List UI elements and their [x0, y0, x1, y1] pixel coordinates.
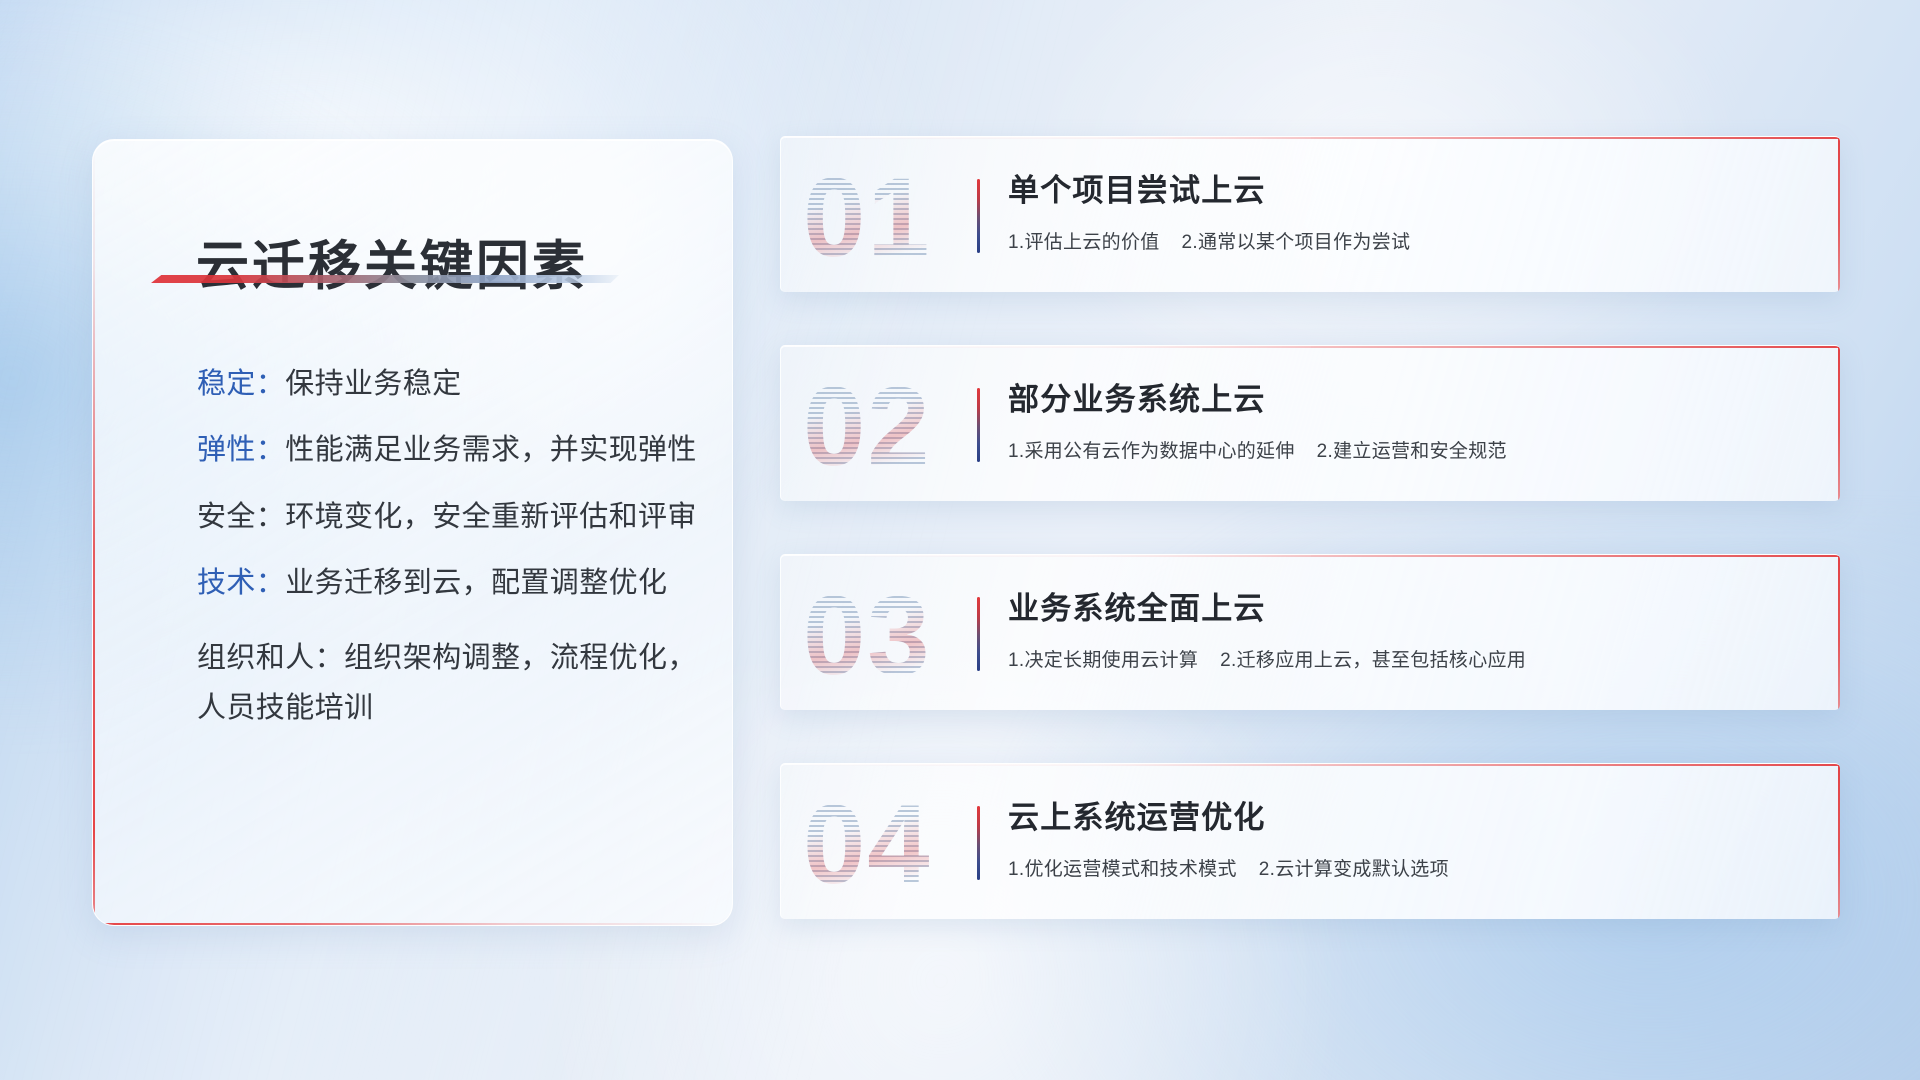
stage-point-2: 2.云计算变成默认选项: [1259, 859, 1449, 880]
list-item: 稳定：保持业务稳定: [197, 368, 698, 400]
card-divider-bar: [977, 179, 980, 253]
list-item-text: 业务迁移到云，配置调整优化: [285, 567, 667, 599]
stage-number-watermark: 03: [803, 561, 932, 710]
slide-stage: 云迁移关键因素 稳定：保持业务稳定 弹性：性能满足业务需求，并实现弹性 安全：环…: [0, 0, 1920, 1080]
list-item: 弹性：性能满足业务需求，并实现弹性: [197, 434, 698, 466]
stage-description: 1.评估上云的价值2.通常以某个项目作为尝试: [1008, 227, 1810, 254]
card-body: 业务系统全面上云 1.决定长期使用云计算2.迁移应用上云，甚至包括核心应用: [1008, 583, 1810, 672]
stage-description: 1.优化运营模式和技术模式2.云计算变成默认选项: [1008, 854, 1810, 881]
stage-description: 1.采用公有云作为数据中心的延伸2.建立运营和安全规范: [1008, 436, 1810, 463]
list-item-text: 保持业务稳定: [285, 368, 461, 400]
stage-number-watermark: 01: [803, 143, 932, 292]
list-item: 安全：环境变化，安全重新评估和评审: [197, 501, 698, 533]
card-top-accent: [781, 764, 1840, 766]
card-top-accent: [781, 346, 1840, 348]
stage-number-watermark: 04: [803, 770, 932, 919]
stage-point-2: 2.迁移应用上云，甚至包括核心应用: [1220, 650, 1526, 671]
key-factors-list: 稳定：保持业务稳定 弹性：性能满足业务需求，并实现弹性 安全：环境变化，安全重新…: [197, 368, 698, 768]
card-top-accent: [781, 137, 1840, 139]
stage-title: 部分业务系统上云: [1008, 374, 1810, 419]
list-item-label: 稳定：: [197, 368, 285, 400]
stage-card[interactable]: 03 03 业务系统全面上云 1.决定长期使用云计算2.迁移应用上云，甚至包括核…: [780, 554, 1840, 710]
stage-point-1: 1.评估上云的价值: [1008, 232, 1160, 253]
page-title: 云迁移关键因素: [196, 224, 588, 300]
stage-card[interactable]: 02 02 部分业务系统上云 1.采用公有云作为数据中心的延伸2.建立运营和安全…: [780, 345, 1840, 501]
list-item-label: 安全：: [197, 501, 285, 533]
card-divider-bar: [977, 806, 980, 880]
stage-point-2: 2.建立运营和安全规范: [1317, 441, 1507, 462]
stage-point-2: 2.通常以某个项目作为尝试: [1182, 232, 1411, 253]
card-divider-bar: [977, 388, 980, 462]
card-top-accent: [781, 555, 1840, 557]
list-item: 技术：业务迁移到云，配置调整优化: [197, 567, 698, 599]
stage-title: 云上系统运营优化: [1008, 792, 1810, 837]
title-underline-rule: [151, 275, 619, 283]
list-item-label: 弹性：: [197, 434, 285, 466]
list-item: 组织和人：组织架构调整，流程优化，人员技能培训: [197, 634, 698, 734]
stage-title: 单个项目尝试上云: [1008, 165, 1810, 210]
card-body: 部分业务系统上云 1.采用公有云作为数据中心的延伸2.建立运营和安全规范: [1008, 374, 1810, 463]
stage-point-1: 1.优化运营模式和技术模式: [1008, 859, 1237, 880]
card-body: 云上系统运营优化 1.优化运营模式和技术模式2.云计算变成默认选项: [1008, 792, 1810, 881]
stage-point-1: 1.采用公有云作为数据中心的延伸: [1008, 441, 1295, 462]
card-body: 单个项目尝试上云 1.评估上云的价值2.通常以某个项目作为尝试: [1008, 165, 1810, 254]
list-item-label: 技术：: [197, 567, 285, 599]
stage-description: 1.决定长期使用云计算2.迁移应用上云，甚至包括核心应用: [1008, 645, 1810, 672]
stage-card[interactable]: 04 04 云上系统运营优化 1.优化运营模式和技术模式2.云计算变成默认选项: [780, 763, 1840, 919]
stage-number-watermark: 02: [803, 352, 932, 501]
card-divider-bar: [977, 597, 980, 671]
key-factors-panel: 云迁移关键因素 稳定：保持业务稳定 弹性：性能满足业务需求，并实现弹性 安全：环…: [92, 139, 733, 926]
list-item-label: 组织和人：: [197, 642, 344, 674]
list-item-text: 性能满足业务需求，并实现弹性: [285, 434, 697, 466]
list-item-text: 环境变化，安全重新评估和评审: [285, 501, 697, 533]
stage-title: 业务系统全面上云: [1008, 583, 1810, 628]
stage-point-1: 1.决定长期使用云计算: [1008, 650, 1198, 671]
stage-card[interactable]: 01 01 单个项目尝试上云 1.评估上云的价值2.通常以某个项目作为尝试: [780, 136, 1840, 292]
migration-stage-cards: 01 01 单个项目尝试上云 1.评估上云的价值2.通常以某个项目作为尝试 02…: [780, 136, 1840, 972]
